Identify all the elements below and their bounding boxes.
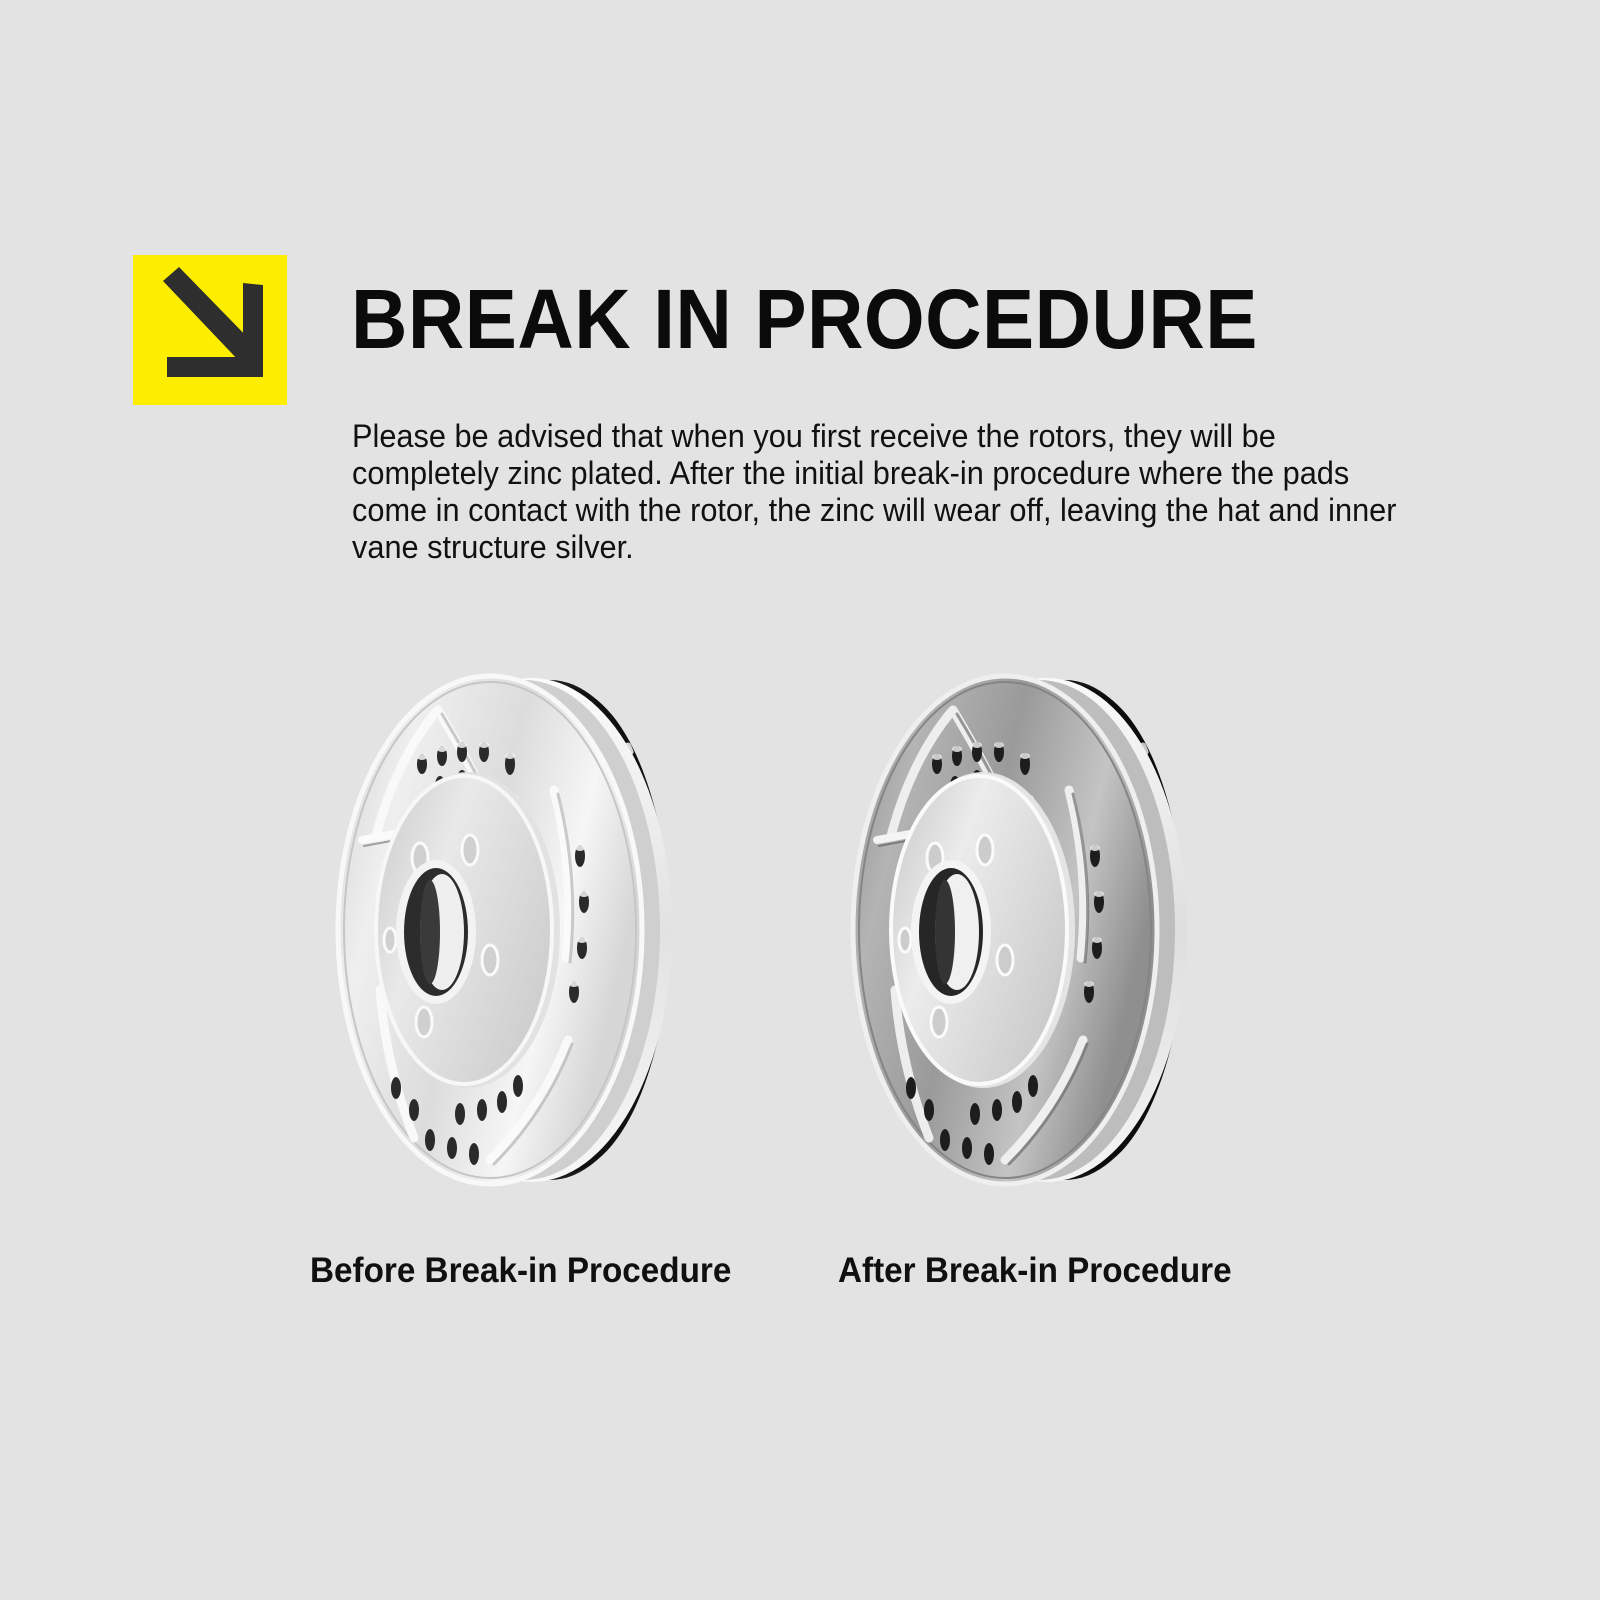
rotor-image-after xyxy=(833,640,1193,1200)
figure-before: Before Break-in Procedure xyxy=(318,640,738,1200)
arrow-down-right-icon xyxy=(133,255,287,405)
arrow-badge xyxy=(133,255,287,405)
caption-before: Before Break-in Procedure xyxy=(310,1252,731,1290)
brake-rotor-zinc-plated-icon xyxy=(318,640,718,1220)
page-title: BREAK IN PROCEDURE xyxy=(351,277,1258,361)
description-text: Please be advised that when you first re… xyxy=(352,418,1418,566)
rotor-image-before xyxy=(318,640,678,1200)
brake-rotor-worn-icon xyxy=(833,640,1233,1220)
description-paragraph: Please be advised that when you first re… xyxy=(352,418,1418,566)
figure-after: After Break-in Procedure xyxy=(833,640,1253,1200)
break-in-procedure-infographic: BREAK IN PROCEDURE Please be advised tha… xyxy=(0,0,1600,1600)
caption-after: After Break-in Procedure xyxy=(838,1252,1232,1290)
rotor-comparison: Before Break-in Procedure xyxy=(0,640,1600,1340)
